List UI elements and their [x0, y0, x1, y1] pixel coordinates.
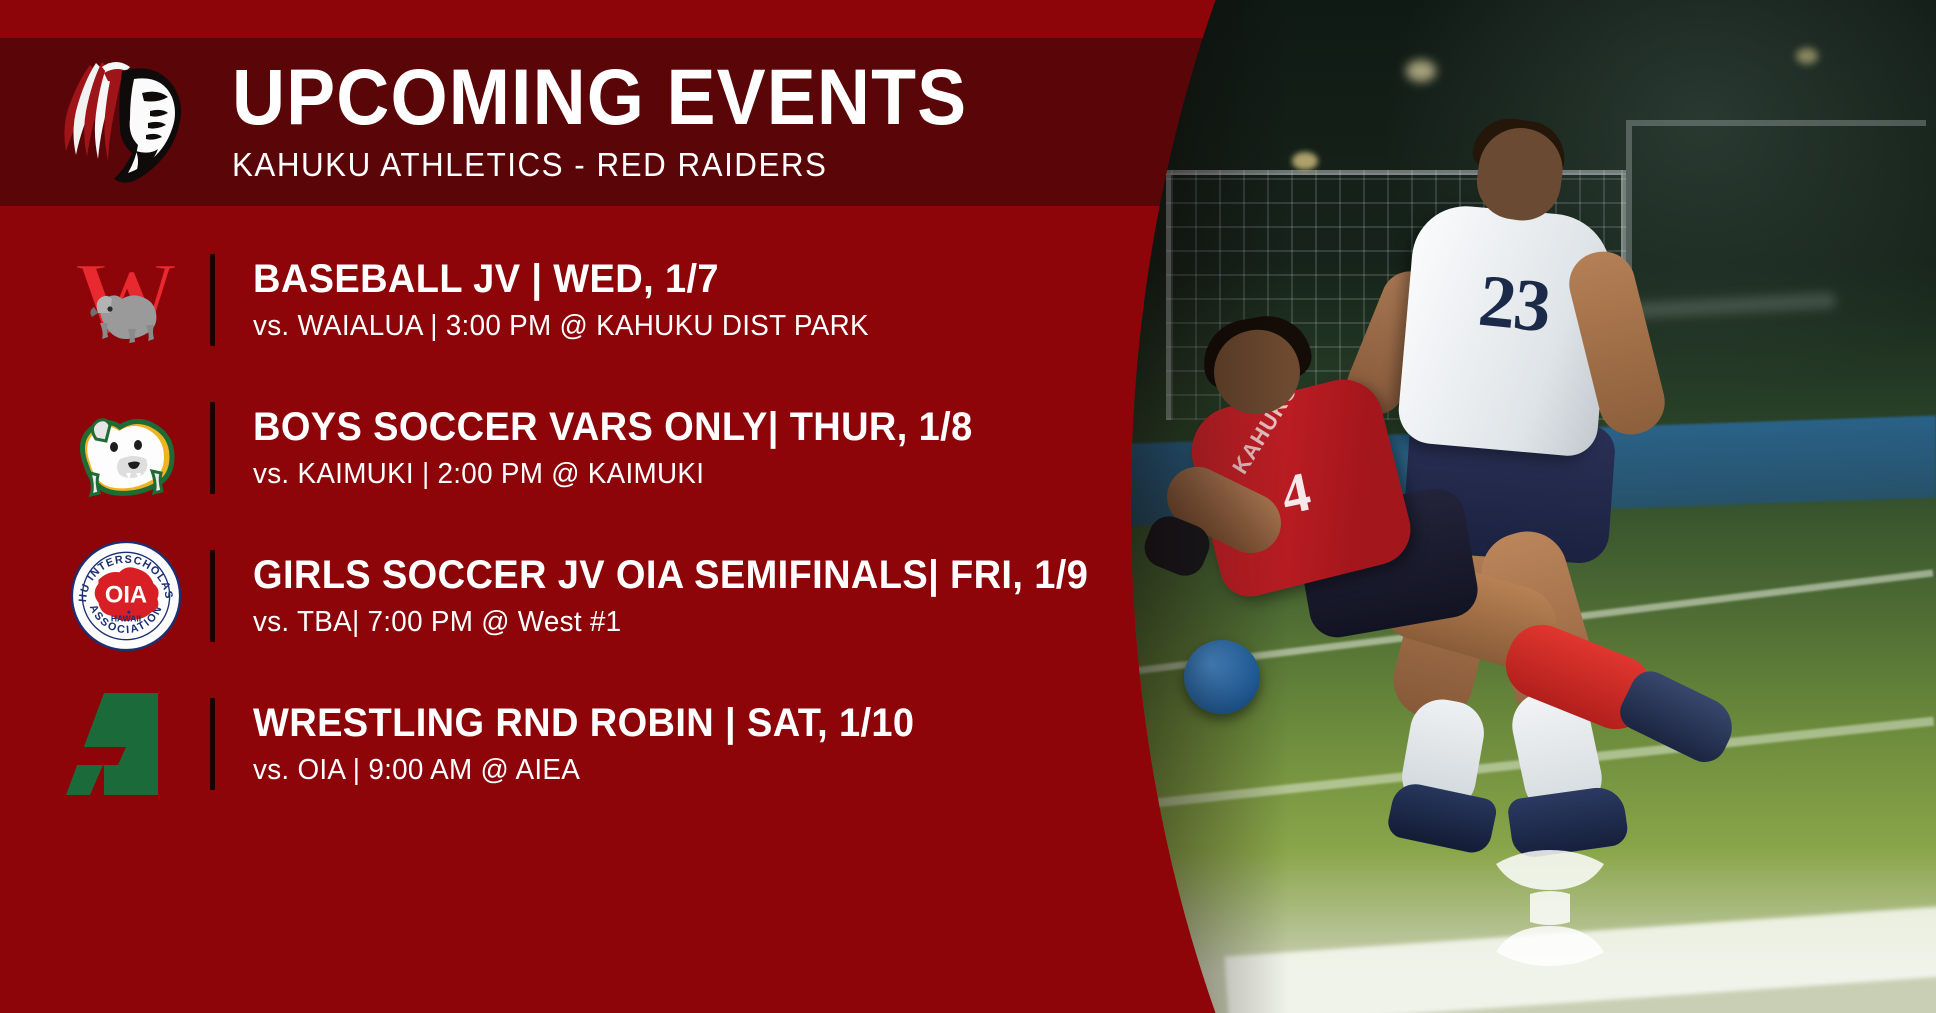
event-text-block: BOYS SOCCER VARS ONLY| THUR, 1/8 vs. KAI…	[253, 406, 1150, 491]
event-title: BASEBALL JV | WED, 1/7	[253, 258, 1105, 300]
page-subtitle: KAHUKU ATHLETICS - RED RAIDERS	[232, 146, 983, 184]
aiea-na-alii-logo-icon	[60, 685, 192, 803]
player-white-shoe-left	[1385, 780, 1498, 856]
event-detail: vs. OIA | 9:00 AM @ AIEA	[253, 754, 1114, 787]
event-text-block: WRESTLING RND ROBIN | SAT, 1/10 vs. OIA …	[253, 702, 1150, 787]
row-divider	[210, 402, 215, 494]
event-title: GIRLS SOCCER JV OIA SEMIFINALS| FRI, 1/9	[253, 554, 1105, 596]
event-text-block: GIRLS SOCCER JV OIA SEMIFINALS| FRI, 1/9…	[253, 554, 1150, 639]
waialua-bulldogs-logo-icon: W	[60, 241, 192, 359]
oia-state-text: HAWAII	[111, 614, 141, 624]
event-detail: vs. WAIALUA | 3:00 PM @ KAHUKU DIST PARK	[253, 310, 1114, 343]
list-item[interactable]: WRESTLING RND ROBIN | SAT, 1/10 vs. OIA …	[0, 670, 1150, 818]
event-detail: vs. TBA| 7:00 PM @ West #1	[253, 606, 1114, 639]
event-detail: vs. KAIMUKI | 2:00 PM @ KAIMUKI	[253, 458, 1114, 491]
events-list: W BASEBALL JV | WED, 1/7 vs. WAIALUA | 3…	[0, 226, 1150, 818]
list-item[interactable]: W BASEBALL JV | WED, 1/7 vs. WAIALUA | 3…	[0, 226, 1150, 374]
row-divider	[210, 254, 215, 346]
page-title: UPCOMING EVENTS	[232, 60, 967, 134]
list-item[interactable]: OAHU INTERSCHOLASTIC ASSOCIATION OIA HAW…	[0, 522, 1150, 670]
oia-association-seal-icon: OAHU INTERSCHOLASTIC ASSOCIATION OIA HAW…	[60, 537, 192, 655]
player-white-jersey-number: 23	[1440, 255, 1588, 354]
stadium-light	[1406, 60, 1436, 82]
under-armour-logo-icon	[1470, 848, 1630, 968]
list-item[interactable]: BOYS SOCCER VARS ONLY| THUR, 1/8 vs. KAI…	[0, 374, 1150, 522]
soccer-action-photo: 23 KAHUKU 4	[1106, 0, 1936, 1013]
goalpost-secondary	[1626, 120, 1926, 420]
stadium-light	[1796, 48, 1818, 64]
header-text-block: UPCOMING EVENTS KAHUKU ATHLETICS - RED R…	[232, 60, 1023, 183]
poster-canvas: UPCOMING EVENTS KAHUKU ATHLETICS - RED R…	[0, 0, 1936, 1013]
event-text-block: BASEBALL JV | WED, 1/7 vs. WAIALUA | 3:0…	[253, 258, 1150, 343]
event-title: BOYS SOCCER VARS ONLY| THUR, 1/8	[253, 406, 1105, 448]
soccer-ball	[1184, 640, 1260, 714]
row-divider	[210, 550, 215, 642]
oia-center-text: OIA	[105, 583, 147, 609]
kahuku-warrior-head-icon	[50, 47, 210, 197]
event-title: WRESTLING RND ROBIN | SAT, 1/10	[253, 702, 1105, 744]
photo-image: 23 KAHUKU 4	[1106, 0, 1936, 1013]
stadium-light	[1292, 152, 1318, 170]
kaimuki-bulldogs-logo-icon	[60, 389, 192, 507]
row-divider	[210, 698, 215, 790]
